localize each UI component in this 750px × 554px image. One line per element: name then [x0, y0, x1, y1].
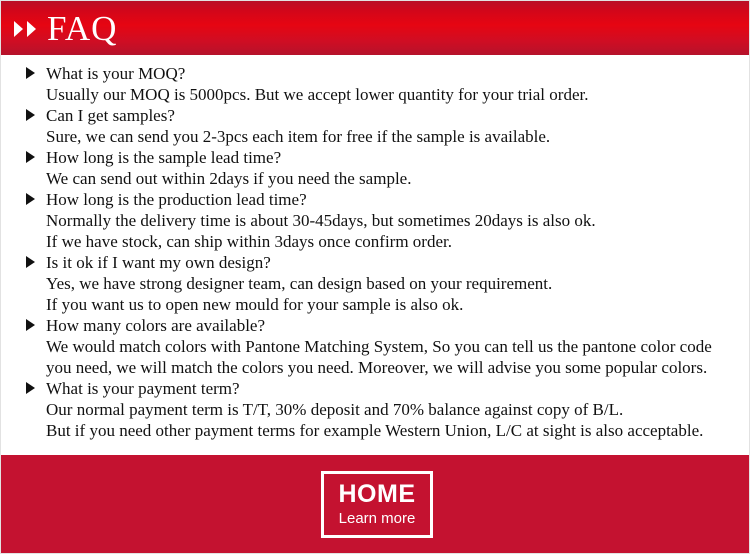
faq-item: How long is the sample lead time? We can… — [1, 147, 750, 189]
faq-question-row[interactable]: What is your MOQ? — [1, 63, 750, 84]
triangle-right-icon-1 — [14, 21, 23, 37]
faq-answer-line: We would match colors with Pantone Match… — [1, 336, 750, 357]
faq-answer-line: But if you need other payment terms for … — [1, 420, 750, 441]
footer-band: HOME Learn more — [1, 455, 750, 554]
faq-item: What is your payment term? Our normal pa… — [1, 378, 750, 441]
faq-question-row[interactable]: Can I get samples? — [1, 105, 750, 126]
faq-question: What is your payment term? — [46, 378, 240, 399]
home-button-label: HOME — [339, 481, 416, 508]
triangle-right-icon — [26, 151, 35, 163]
faq-answer-line: Sure, we can send you 2-3pcs each item f… — [1, 126, 750, 147]
faq-question: What is your MOQ? — [46, 63, 185, 84]
faq-answer-line: If you want us to open new mould for you… — [1, 294, 750, 315]
faq-question: How many colors are available? — [46, 315, 265, 336]
triangle-right-icon — [26, 256, 35, 268]
faq-list: What is your MOQ? Usually our MOQ is 500… — [1, 55, 750, 455]
faq-item: Is it ok if I want my own design? Yes, w… — [1, 252, 750, 315]
faq-answer-line: Our normal payment term is T/T, 30% depo… — [1, 399, 750, 420]
triangle-right-icon — [26, 193, 35, 205]
triangle-right-icon-2 — [27, 21, 36, 37]
faq-header-banner: FAQ — [1, 1, 750, 55]
triangle-right-icon — [26, 382, 35, 394]
faq-question: Can I get samples? — [46, 105, 175, 126]
faq-item: What is your MOQ? Usually our MOQ is 500… — [1, 63, 750, 105]
faq-question: How long is the production lead time? — [46, 189, 307, 210]
triangle-right-icon — [26, 67, 35, 79]
faq-answer-line: you need, we will match the colors you n… — [1, 357, 750, 378]
faq-question: How long is the sample lead time? — [46, 147, 281, 168]
home-button[interactable]: HOME Learn more — [321, 471, 433, 538]
faq-question: Is it ok if I want my own design? — [46, 252, 271, 273]
home-button-sublabel: Learn more — [339, 510, 416, 528]
faq-answer-line: Yes, we have strong designer team, can d… — [1, 273, 750, 294]
faq-question-row[interactable]: What is your payment term? — [1, 378, 750, 399]
page-title: FAQ — [47, 11, 117, 46]
faq-answer-line: Normally the delivery time is about 30-4… — [1, 210, 750, 231]
faq-question-row[interactable]: How many colors are available? — [1, 315, 750, 336]
faq-question-row[interactable]: How long is the sample lead time? — [1, 147, 750, 168]
faq-answer-line: We can send out within 2days if you need… — [1, 168, 750, 189]
faq-item: How many colors are available? We would … — [1, 315, 750, 378]
faq-question-row[interactable]: Is it ok if I want my own design? — [1, 252, 750, 273]
faq-answer-line: Usually our MOQ is 5000pcs. But we accep… — [1, 84, 750, 105]
faq-item: Can I get samples? Sure, we can send you… — [1, 105, 750, 147]
faq-item: How long is the production lead time? No… — [1, 189, 750, 252]
faq-question-row[interactable]: How long is the production lead time? — [1, 189, 750, 210]
faq-answer-line: If we have stock, can ship within 3days … — [1, 231, 750, 252]
faq-page: FAQ What is your MOQ? Usually our MOQ is… — [0, 0, 750, 554]
triangle-right-icon — [26, 109, 35, 121]
triangle-right-icon — [26, 319, 35, 331]
double-triangle-right-icon — [14, 21, 36, 37]
